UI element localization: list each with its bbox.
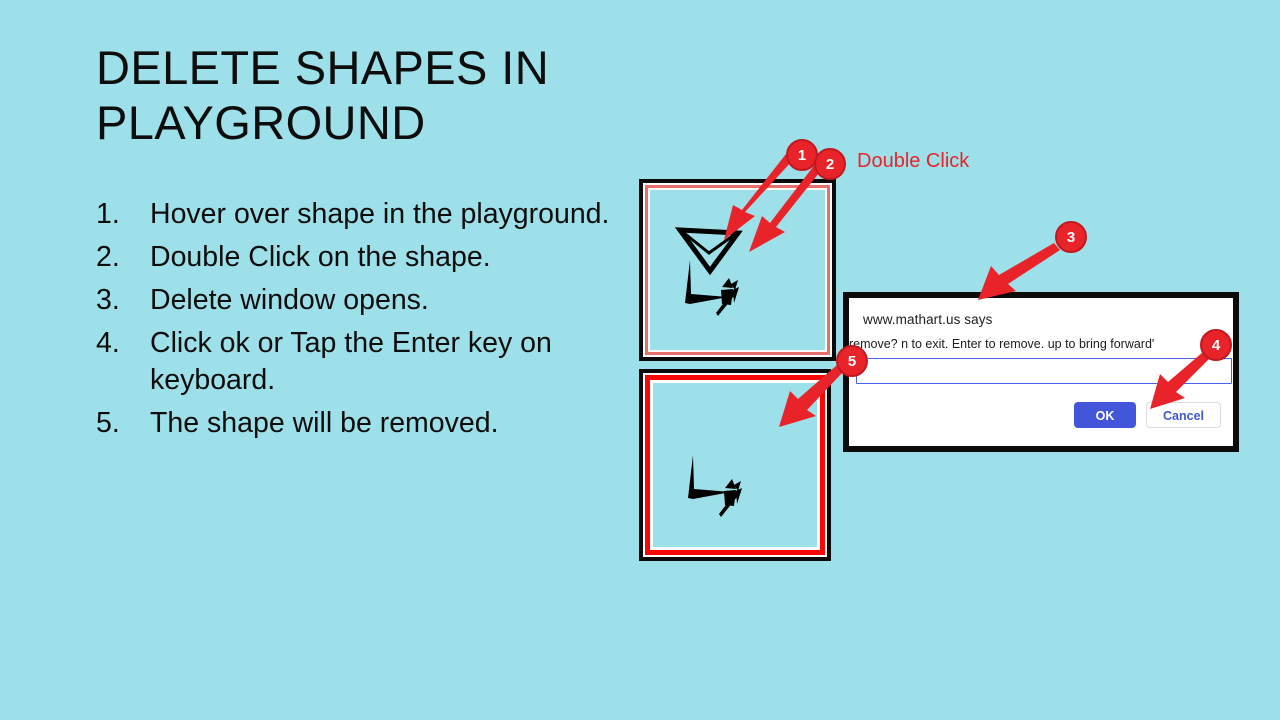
list-item-label: Hover over shape in the playground. xyxy=(150,196,641,233)
playground-canvas[interactable] xyxy=(650,190,825,350)
playground-inner-border xyxy=(645,185,830,355)
list-item-label: Double Click on the shape. xyxy=(150,239,641,276)
list-item: 3. Delete window opens. xyxy=(96,282,641,319)
page-title: DELETE SHAPES IN PLAYGROUND xyxy=(96,40,636,151)
browser-alert-dialog[interactable]: www.mathart.us says remove? n to exit. E… xyxy=(843,292,1239,452)
list-item-number: 1. xyxy=(96,196,150,233)
dialog-prompt-input[interactable] xyxy=(856,358,1232,384)
list-item-number: 4. xyxy=(96,325,150,362)
step-badge-4: 4 xyxy=(1200,329,1232,361)
list-item-label: Delete window opens. xyxy=(150,282,641,319)
checkmark-angle-shape[interactable] xyxy=(650,256,714,311)
checkmark-angle-shape[interactable] xyxy=(653,451,717,506)
list-item-label: Click ok or Tap the Enter key on keyboar… xyxy=(150,325,641,399)
ok-button[interactable]: OK xyxy=(1074,402,1136,428)
steps-list: 1. Hover over shape in the playground. 2… xyxy=(96,196,641,448)
dialog-body: www.mathart.us says remove? n to exit. E… xyxy=(849,298,1233,446)
playground-after-box[interactable] xyxy=(639,369,831,561)
playground-inner-border xyxy=(645,375,825,555)
list-item-number: 5. xyxy=(96,405,150,442)
list-item-number: 3. xyxy=(96,282,150,319)
slide-canvas: DELETE SHAPES IN PLAYGROUND 1. Hover ove… xyxy=(0,0,1280,720)
double-click-callout-label: Double Click xyxy=(857,150,969,173)
step-badge-2: 2 xyxy=(814,148,846,180)
dialog-button-row: OK Cancel xyxy=(1074,402,1221,428)
bird-glyph-shape[interactable] xyxy=(708,274,748,326)
cancel-button[interactable]: Cancel xyxy=(1146,402,1221,428)
dialog-message-text: remove? n to exit. Enter to remove. up t… xyxy=(849,337,1233,351)
list-item: 4. Click ok or Tap the Enter key on keyb… xyxy=(96,325,641,399)
step-badge-5: 5 xyxy=(836,345,868,377)
step-badge-3: 3 xyxy=(1055,221,1087,253)
list-item: 2. Double Click on the shape. xyxy=(96,239,641,276)
list-item: 1. Hover over shape in the playground. xyxy=(96,196,641,233)
list-item-label: The shape will be removed. xyxy=(150,405,641,442)
dialog-host-label: www.mathart.us says xyxy=(863,312,1219,327)
playground-before-box[interactable] xyxy=(639,179,836,361)
list-item: 5. The shape will be removed. xyxy=(96,405,641,442)
bird-glyph-shape[interactable] xyxy=(711,475,751,527)
playground-canvas[interactable] xyxy=(653,383,817,547)
list-item-number: 2. xyxy=(96,239,150,276)
